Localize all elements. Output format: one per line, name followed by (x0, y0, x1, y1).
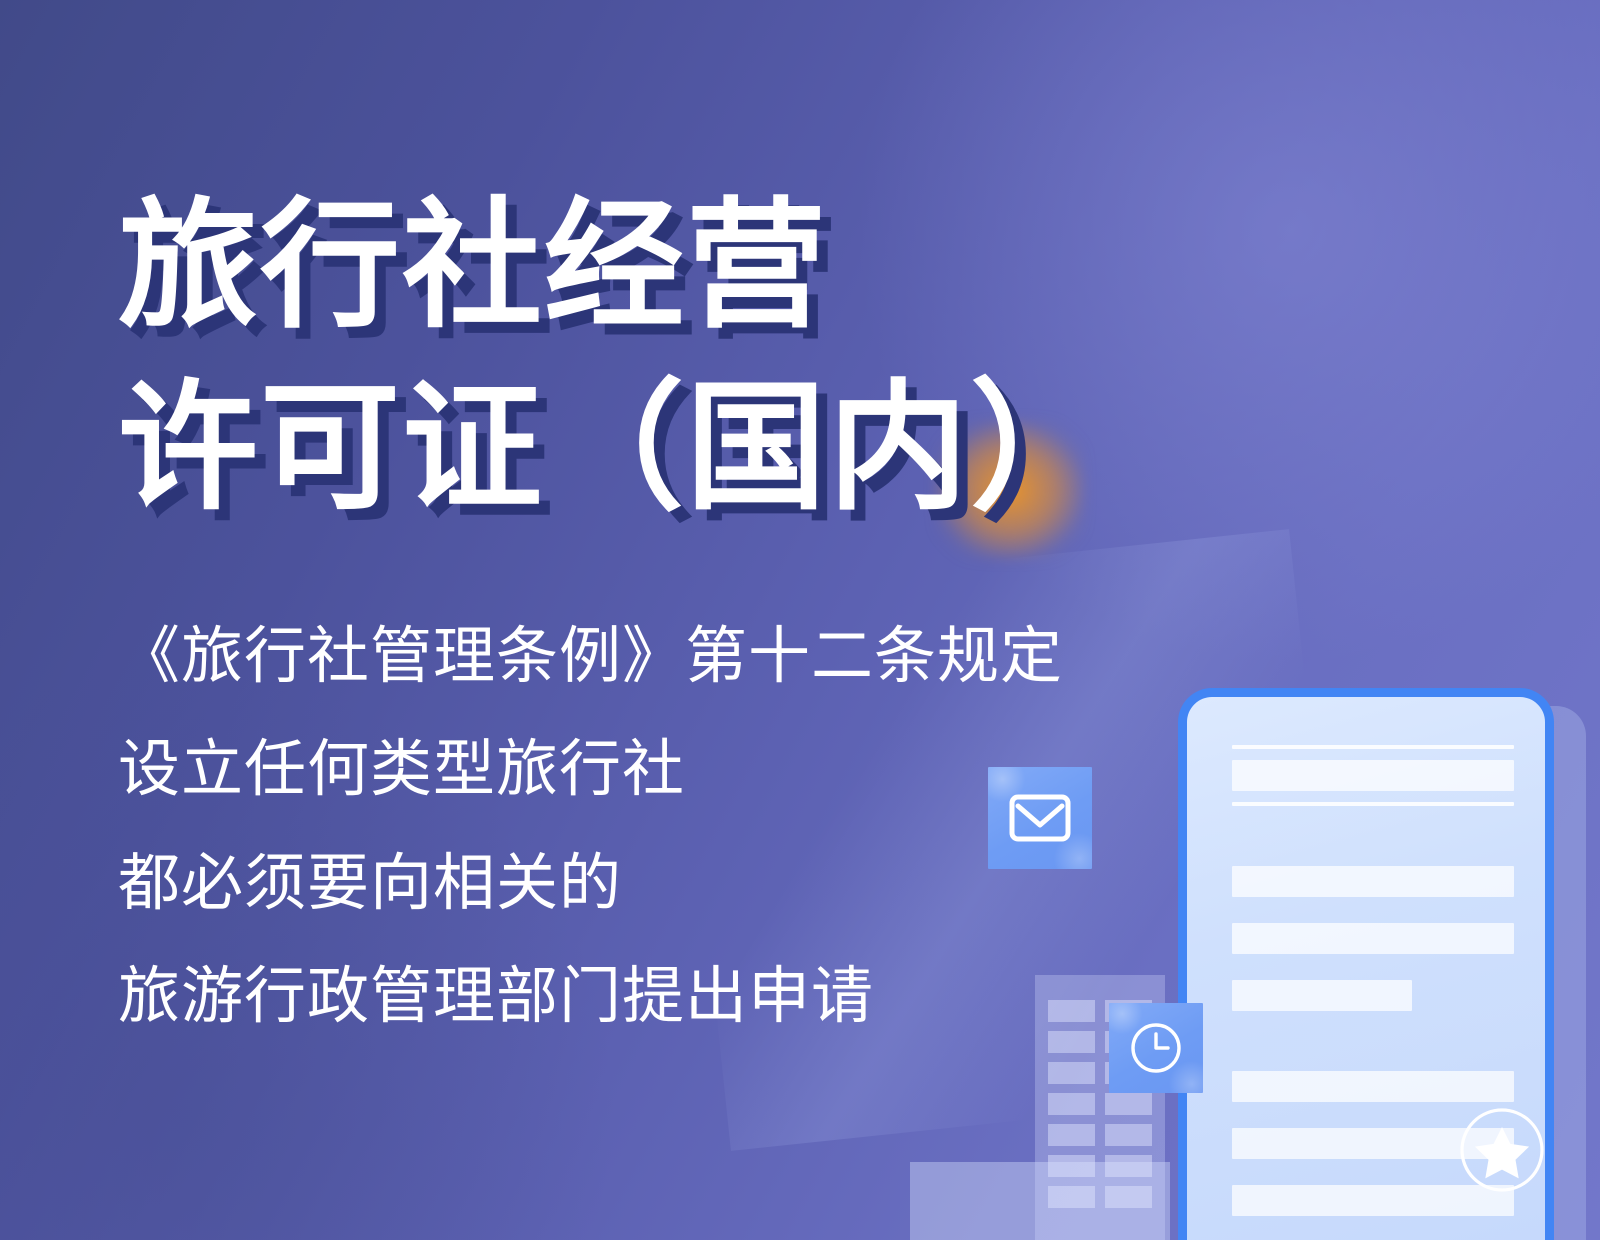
building-window (1048, 1186, 1095, 1208)
building-window (1048, 1093, 1095, 1115)
poster-canvas: 旅行社经营 许可证（国内） 《旅行社管理条例》第十二条规定 设立任何类型旅行社 … (0, 0, 1600, 1240)
document-line (1232, 802, 1514, 806)
building-window (1105, 1155, 1152, 1177)
document-line (1232, 760, 1514, 791)
document-line (1232, 866, 1514, 897)
building-window (1048, 1031, 1095, 1053)
document-line (1232, 745, 1514, 749)
headline-line-2: 许可证（国内） (118, 357, 1238, 539)
building-window (1048, 1000, 1095, 1022)
body-line-1: 《旅行社管理条例》第十二条规定 (118, 600, 1178, 713)
envelope-tile (988, 767, 1092, 869)
building-window (1105, 1093, 1152, 1115)
building-window (1105, 1124, 1152, 1146)
document-line (1232, 923, 1514, 954)
document-card (1178, 688, 1554, 1240)
headline-line-1: 旅行社经营 (118, 175, 1238, 357)
document-line (1232, 1071, 1514, 1102)
building-window (1048, 1062, 1095, 1084)
headline-block: 旅行社经营 许可证（国内） (118, 175, 1238, 539)
clock-icon (1128, 1020, 1184, 1076)
clock-tile (1109, 1003, 1203, 1093)
building-window (1048, 1124, 1095, 1146)
body-line-4: 旅游行政管理部门提出申请 (118, 940, 1178, 1053)
envelope-icon (1009, 793, 1071, 843)
star-seal-icon (1457, 1105, 1547, 1195)
building-window (1105, 1186, 1152, 1208)
document-line (1232, 980, 1412, 1011)
building-window (1048, 1155, 1095, 1177)
